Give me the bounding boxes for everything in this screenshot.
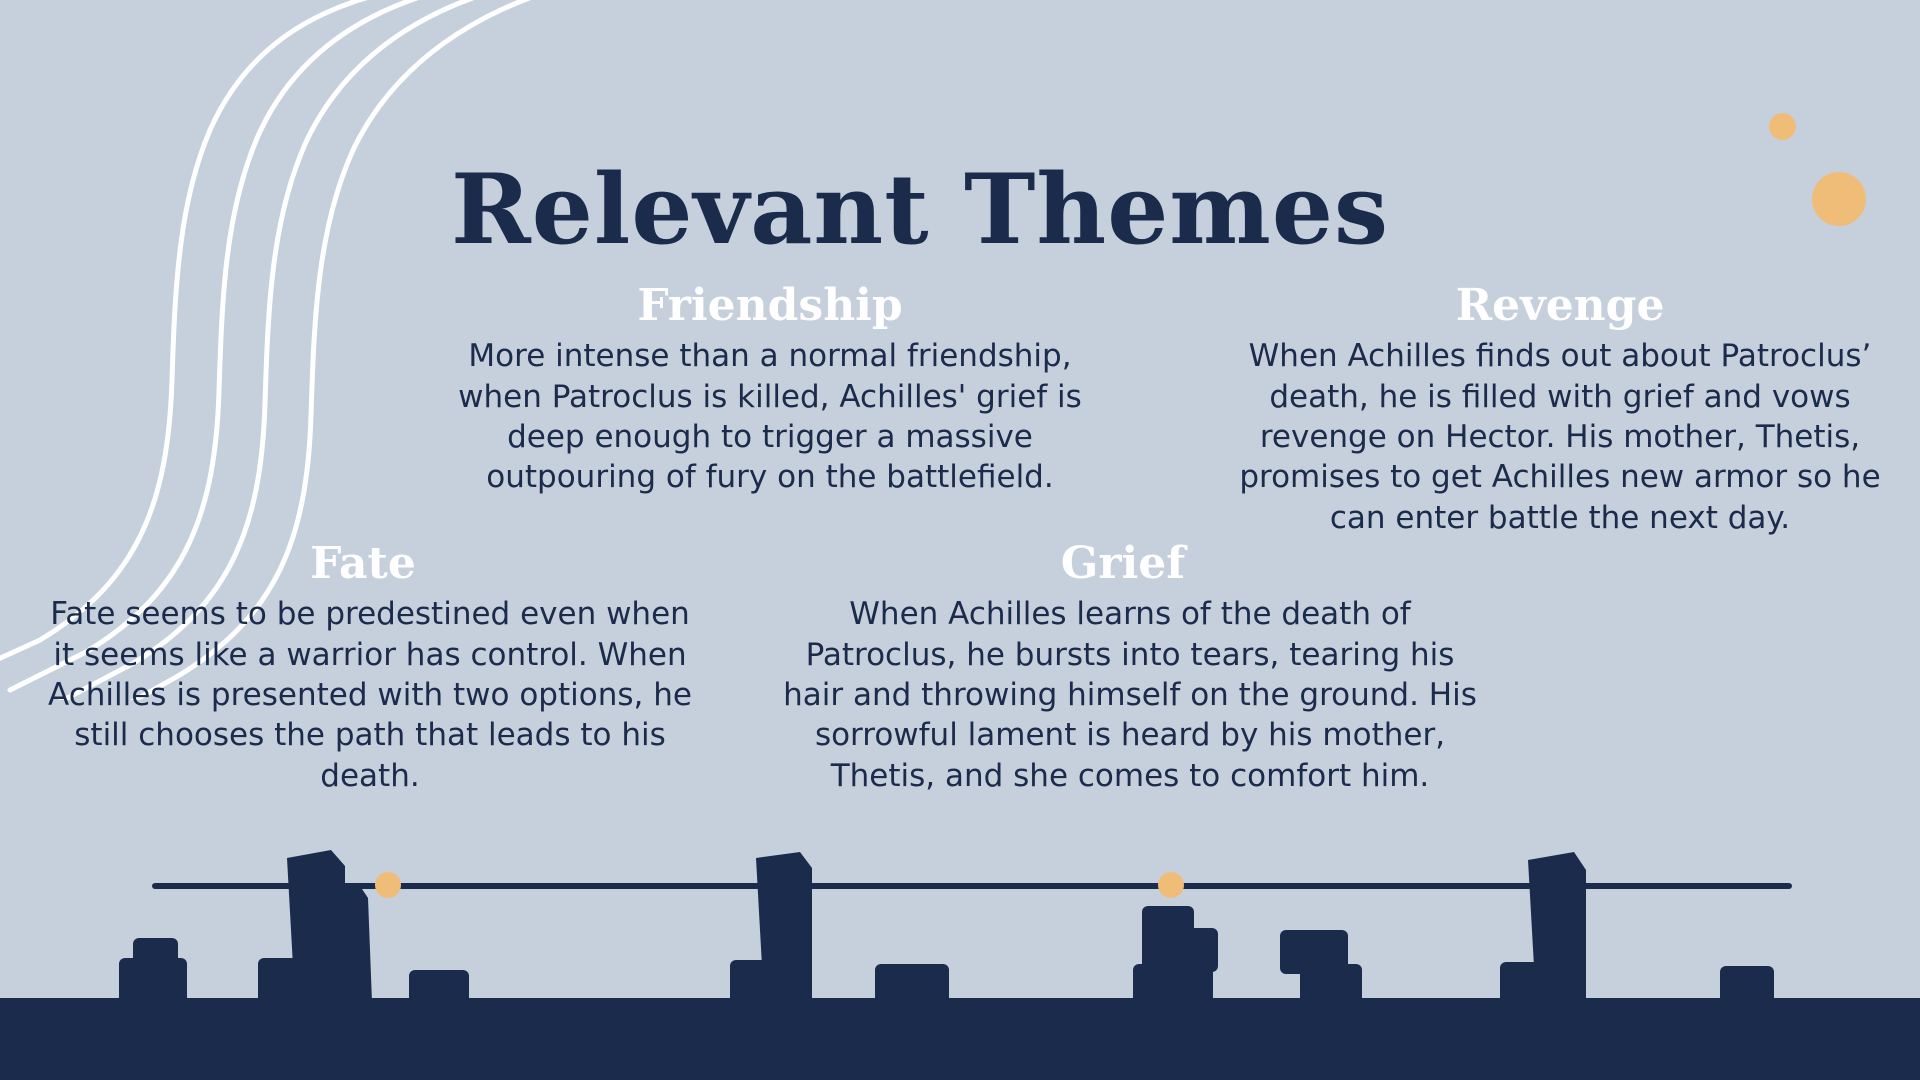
theme-heading-friendship: Friendship [430, 282, 1110, 330]
theme-body-grief: When Achilles learns of the death of Pat… [780, 594, 1480, 795]
theme-heading-fate: Fate [26, 540, 700, 588]
theme-heading-revenge: Revenge [1210, 282, 1910, 330]
theme-block-revenge: Revenge When Achilles finds out about Pa… [1210, 282, 1910, 538]
theme-body-fate: Fate seems to be predestined even when i… [40, 594, 700, 795]
theme-block-fate: Fate Fate seems to be predestined even w… [40, 540, 700, 796]
ruins-silhouette [0, 850, 1920, 1080]
theme-heading-grief: Grief [766, 540, 1480, 588]
small-orange-dot [1769, 113, 1796, 140]
theme-block-friendship: Friendship More intense than a normal fr… [430, 282, 1110, 498]
theme-block-grief: Grief When Achilles learns of the death … [780, 540, 1480, 796]
page-title: Relevant Themes [0, 160, 1880, 261]
theme-body-friendship: More intense than a normal friendship, w… [430, 336, 1110, 497]
slide-canvas: Relevant Themes Friendship More intense … [0, 0, 1920, 1080]
theme-body-revenge: When Achilles finds out about Patroclus’… [1210, 336, 1910, 537]
